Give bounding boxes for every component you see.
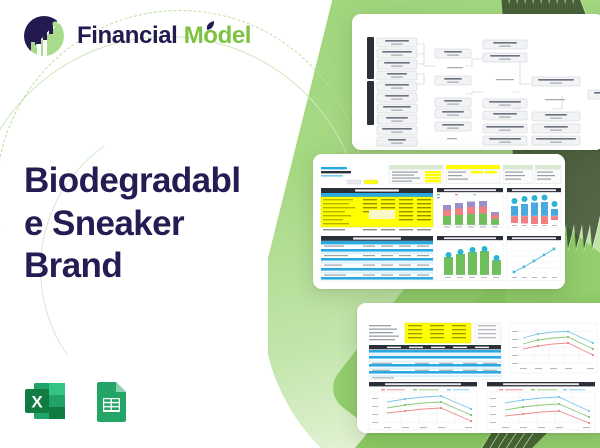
slide-canvas: Financial Model Biodegradabl e Sneaker B…	[0, 0, 600, 448]
google-sheets-icon[interactable]	[88, 378, 134, 424]
brand-name: Financial Model	[77, 24, 251, 48]
brand-name-part1: Financial	[77, 22, 177, 49]
leaf-icon	[206, 21, 215, 32]
chart-investment-payback	[507, 236, 561, 280]
financial-model-circle-chart-logo	[22, 14, 66, 58]
file-format-icons: X	[22, 378, 134, 424]
chart-cash-flow	[437, 236, 503, 280]
flowchart-thumbnail	[352, 14, 600, 150]
financial-dashboard-preview[interactable]	[313, 154, 565, 289]
page-title-line-1: Biodegradabl	[24, 160, 274, 203]
brand-logo: Financial Model	[22, 14, 251, 58]
statements-and-charts-preview[interactable]	[357, 303, 600, 433]
page-title: Biodegradabl e Sneaker Brand	[24, 160, 274, 288]
page-title-line-3: Brand	[24, 245, 274, 288]
statements-thumbnail	[357, 303, 600, 433]
brand-name-part2: Model	[184, 22, 251, 49]
chart-top-right-lines	[509, 323, 597, 373]
microsoft-excel-icon[interactable]: X	[22, 378, 68, 424]
page-title-line-2: e Sneaker	[24, 203, 274, 246]
svg-text:X: X	[31, 393, 43, 412]
chart-total-revenue-breakup	[437, 188, 503, 227]
dupont-ratio-flowchart-preview[interactable]	[352, 14, 600, 150]
chart-profitability	[507, 188, 561, 227]
dashboard-thumbnail	[313, 154, 565, 289]
